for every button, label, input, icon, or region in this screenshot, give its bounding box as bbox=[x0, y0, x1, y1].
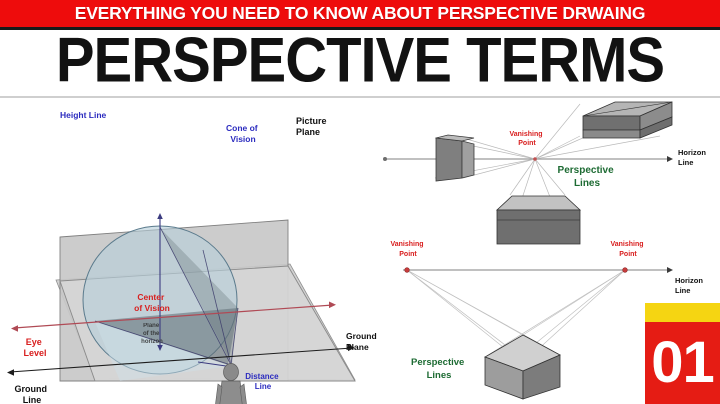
page-title-text: PERSPECTIVE TERMS bbox=[56, 30, 664, 93]
header-banner-text: EVERYTHING YOU NEED TO KNOW ABOUT PERSPE… bbox=[75, 3, 646, 24]
badge-top-stripe bbox=[645, 303, 720, 322]
plane-of-horizon-label: Plane of the horizon bbox=[141, 323, 163, 345]
vanishing-point-dot-1pt bbox=[533, 157, 537, 161]
one-point-svg: Vanishing Point Perspective Lines Horizo… bbox=[375, 100, 720, 245]
one-point-diagram: Vanishing Point Perspective Lines Horizo… bbox=[375, 100, 720, 245]
title-underline bbox=[0, 96, 720, 98]
box-left-1pt bbox=[436, 135, 474, 181]
header-banner: EVERYTHING YOU NEED TO KNOW ABOUT PERSPE… bbox=[0, 0, 720, 27]
left-diagram: Height Line Cone of Vision Picture Plane… bbox=[0, 100, 380, 404]
lesson-number-badge: 01 bbox=[645, 303, 720, 404]
horizon-right-arrow-2pt bbox=[667, 267, 673, 273]
cone-of-vision-label: Cone of Vision bbox=[226, 123, 260, 144]
eye-level-label: Eye Level bbox=[23, 337, 46, 358]
horizon-line-label-1pt: Horizon Line bbox=[678, 148, 708, 167]
box-2pt bbox=[485, 335, 560, 399]
vanishing-point-label-right: Vanishing Point bbox=[610, 241, 645, 258]
badge-number-text: 01 bbox=[645, 322, 720, 404]
vanishing-point-label-1pt: Vanishing Point bbox=[509, 131, 544, 147]
ground-line-label: Ground Line bbox=[14, 384, 49, 404]
horizon-line-label-2pt: Horizon Line bbox=[675, 276, 705, 295]
vanishing-point-label-left: Vanishing Point bbox=[390, 241, 425, 258]
eye-level-arrow-left bbox=[11, 325, 18, 332]
horizon-right-arrow bbox=[667, 156, 673, 162]
height-line-label: Height Line bbox=[60, 110, 107, 120]
slide-root: EVERYTHING YOU NEED TO KNOW ABOUT PERSPE… bbox=[0, 0, 720, 404]
perspective-lines-label-1pt: Perspective Lines bbox=[558, 165, 617, 189]
picture-plane-label: Picture Plane bbox=[296, 116, 329, 137]
height-line-arrow-top bbox=[157, 213, 163, 219]
horizon-left-dot bbox=[383, 157, 387, 161]
box-top-right-1pt bbox=[583, 102, 672, 138]
perspective-lines-label-2pt: Perspective Lines bbox=[411, 357, 467, 381]
left-diagram-svg: Height Line Cone of Vision Picture Plane… bbox=[0, 100, 380, 404]
page-title: PERSPECTIVE TERMS bbox=[0, 30, 720, 92]
center-of-vision-label: Center of Vision bbox=[134, 292, 170, 313]
ground-line-arrow-left bbox=[7, 369, 14, 376]
vanishing-point-dot-left bbox=[405, 268, 410, 273]
eye-level-arrow-right bbox=[329, 302, 336, 309]
vanishing-point-dot-right bbox=[623, 268, 628, 273]
